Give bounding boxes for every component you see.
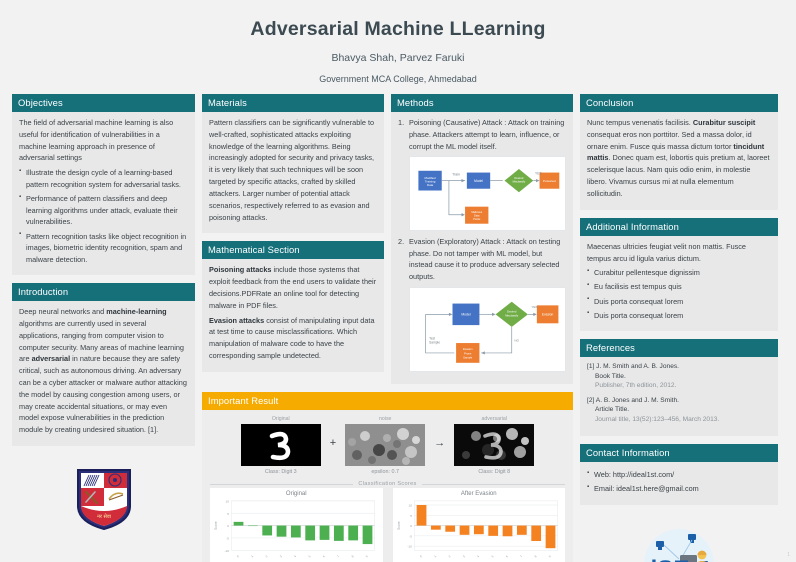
edge-label-yes: YES xyxy=(535,172,541,176)
svg-text:-10: -10 xyxy=(407,545,412,549)
reference-entry: [2] A. B. Jones and J. M. Smith. Article… xyxy=(587,396,771,425)
svg-text:3: 3 xyxy=(279,554,283,558)
introduction-paragraph: Deep neural networks and machine-learnin… xyxy=(19,306,188,436)
svg-text:Malicious: Malicious xyxy=(471,210,483,214)
svg-text:Misclassify: Misclassify xyxy=(505,314,519,318)
section-important-result-heading: Important Result xyxy=(202,392,573,410)
svg-text:Poisoned: Poisoned xyxy=(543,179,556,183)
section-materials-body: Pattern classifiers can be significantly… xyxy=(202,112,384,233)
section-methods-heading: Methods xyxy=(391,94,573,112)
reference-source: Journal title, 13(52):123–456, March 201… xyxy=(587,415,771,425)
intro-bold-2: adversarial xyxy=(32,354,71,363)
panel-caption-bottom: Class: Digit 3 xyxy=(241,469,321,475)
section-objectives-heading: Objectives xyxy=(12,94,195,112)
section-materials: Materials Pattern classifiers can be sig… xyxy=(202,94,384,233)
panel-caption-top: Original xyxy=(241,416,321,422)
contact-list: Web: http://ideal1st.com/ Email: ideal1s… xyxy=(587,469,771,495)
conclusion-text-2: consequat eros non porttitor. Sed a mass… xyxy=(587,130,752,151)
classification-scores-divider: Classification Scores xyxy=(210,481,565,487)
contact-web[interactable]: Web: http://ideal1st.com/ xyxy=(587,469,771,481)
conclusion-text-1: Nunc tempus venenatis facilisis. xyxy=(587,118,693,127)
edge-label-no: NO xyxy=(514,338,519,342)
poster-columns: Objectives The field of adversarial mach… xyxy=(0,94,796,562)
svg-text:Data: Data xyxy=(474,214,480,218)
panel-caption-top: noise xyxy=(345,416,425,422)
column-materials: Materials Pattern classifiers can be sig… xyxy=(202,94,384,392)
reference-entry: [1] J. M. Smith and A. B. Jones. Book Ti… xyxy=(587,362,771,391)
reference-authors: [2] A. B. Jones and J. M. Smith. xyxy=(587,396,771,406)
method-2-text: Evasion (Exploratory) Attack : Attack on… xyxy=(409,237,560,281)
list-item: Duis porta consequat lorem xyxy=(587,296,771,308)
panel-caption-bottom: Class: Digit 8 xyxy=(454,469,534,475)
svg-text:9: 9 xyxy=(547,554,551,558)
section-additional-information-heading: Additional Information xyxy=(580,218,778,236)
evasion-diagram-svg: Test Sample YES NO Model Desired Misclas… xyxy=(413,291,562,368)
svg-text:Score: Score xyxy=(214,521,218,530)
objectives-intro: The field of adversarial machine learnin… xyxy=(19,117,188,164)
poisoning-attack-flow-diagram: Train YES Modified Training Data Model D… xyxy=(409,156,566,230)
svg-text:2: 2 xyxy=(447,554,451,558)
svg-text:Model: Model xyxy=(474,179,483,183)
page-title: Adversarial Machine LLearning xyxy=(0,18,796,41)
svg-text:Misclassify: Misclassify xyxy=(513,180,526,184)
math-paragraph-2: Evasion attacks consist of manipulating … xyxy=(209,315,377,362)
crest-logo-container: नर सेवा xyxy=(12,466,195,532)
section-conclusion: Conclusion Nunc tempus venenatis facilis… xyxy=(580,94,778,210)
plus-operator-icon: + xyxy=(330,437,336,455)
svg-text:6: 6 xyxy=(504,554,508,558)
svg-text:4: 4 xyxy=(476,554,480,558)
poisoning-diagram-svg: Train YES Modified Training Data Model D… xyxy=(413,160,562,226)
methods-numbered-list: Poisoning (Causative) Attack : Attack on… xyxy=(398,117,566,372)
section-mathematical-heading: Mathematical Section xyxy=(202,241,384,259)
column-left: Objectives The field of adversarial mach… xyxy=(12,94,195,562)
mnist-original-image xyxy=(241,424,321,466)
svg-text:0: 0 xyxy=(227,524,229,528)
panel-caption-bottom: epsilon: 0.7 xyxy=(345,469,425,475)
section-contact-information: Contact Information Web: http://ideal1st… xyxy=(580,444,778,504)
contact-email[interactable]: Email: ideal1st.here@gmail.com xyxy=(587,483,771,495)
svg-text:5: 5 xyxy=(490,554,494,558)
svg-text:5: 5 xyxy=(410,514,412,518)
intro-text-1: Deep neural networks and xyxy=(19,307,106,316)
section-objectives-body: The field of adversarial machine learnin… xyxy=(12,112,195,275)
section-references-body: [1] J. M. Smith and A. B. Jones. Book Ti… xyxy=(580,357,778,436)
mnist-noise-image xyxy=(345,424,425,466)
math-bold-2: Evasion attacks xyxy=(209,316,264,325)
section-methods: Methods Poisoning (Causative) Attack : A… xyxy=(391,94,573,384)
section-important-result: Important Result Original Class: Digit xyxy=(202,392,573,562)
chart-after-evasion-svg: -10-505100123456789Score xyxy=(395,497,563,562)
svg-text:9: 9 xyxy=(365,554,369,558)
svg-text:0: 0 xyxy=(236,554,240,558)
svg-text:Evasion: Evasion xyxy=(542,313,554,317)
svg-text:Data: Data xyxy=(427,183,434,187)
reference-title: Book Title. xyxy=(587,372,771,382)
svg-text:Prone: Prone xyxy=(464,351,472,355)
svg-text:2: 2 xyxy=(265,554,269,558)
svg-text:Sample: Sample xyxy=(463,355,473,359)
section-introduction-body: Deep neural networks and machine-learnin… xyxy=(12,301,195,446)
section-additional-information: Additional Information Maecenas ultricie… xyxy=(580,218,778,331)
affiliation: Government MCA College, Ahmedabad xyxy=(0,74,796,84)
mnist-panel-original: Original Class: Digit 3 xyxy=(241,416,321,475)
svg-text:3: 3 xyxy=(461,554,465,558)
additional-info-intro: Maecenas ultricies feugiat velit non mat… xyxy=(587,241,771,265)
reference-authors: [1] J. M. Smith and A. B. Jones. xyxy=(587,362,771,372)
svg-text:5: 5 xyxy=(307,554,311,558)
list-item: Illustrate the design cycle of a learnin… xyxy=(19,167,188,190)
author-list: Bhavya Shah, Parvez Faruki xyxy=(0,52,796,64)
arrow-right-icon: → xyxy=(434,437,445,455)
svg-text:Points: Points xyxy=(473,218,481,222)
svg-text:8: 8 xyxy=(350,554,354,558)
svg-text:0: 0 xyxy=(410,524,412,528)
svg-text:नर सेवा: नर सेवा xyxy=(97,513,112,520)
section-references: References [1] J. M. Smith and A. B. Jon… xyxy=(580,339,778,436)
column-methods: Methods Poisoning (Causative) Attack : A… xyxy=(391,94,573,392)
university-crest-icon: नर सेवा xyxy=(73,466,135,532)
divider-line-right xyxy=(422,484,565,485)
section-methods-body: Poisoning (Causative) Attack : Attack on… xyxy=(391,112,573,384)
list-item: Duis porta consequat lorem xyxy=(587,310,771,322)
method-1-text: Poisoning (Causative) Attack : Attack on… xyxy=(409,118,564,151)
svg-text:Evasion: Evasion xyxy=(463,347,473,351)
evasion-attack-flow-diagram: Test Sample YES NO Model Desired Misclas… xyxy=(409,287,566,372)
isea-logo-icon: iSE A xyxy=(640,525,718,562)
svg-text:1: 1 xyxy=(250,554,254,558)
additional-info-bullet-list: Curabitur pellentesque dignissim Eu faci… xyxy=(587,267,771,321)
divider-line-left xyxy=(210,484,353,485)
list-item: Poisoning (Causative) Attack : Attack on… xyxy=(398,117,566,231)
svg-text:-5: -5 xyxy=(226,537,229,541)
svg-text:4: 4 xyxy=(293,554,297,558)
mnist-comparison-row: Original Class: Digit 3 + noise xyxy=(210,416,565,475)
materials-text: Pattern classifiers can be significantly… xyxy=(209,117,377,223)
intro-bold-1: machine-learning xyxy=(106,307,166,316)
panel-caption-top: adversarial xyxy=(454,416,534,422)
column-middle: Materials Pattern classifiers can be sig… xyxy=(202,94,573,562)
page-number: 1 xyxy=(787,552,790,558)
mnist-adversarial-image xyxy=(454,424,534,466)
list-item: Eu facilisis est tempus quis xyxy=(587,281,771,293)
section-conclusion-heading: Conclusion xyxy=(580,94,778,112)
svg-text:0: 0 xyxy=(418,554,422,558)
svg-text:Score: Score xyxy=(396,521,400,530)
section-conclusion-body: Nunc tempus venenatis facilisis. Curabit… xyxy=(580,112,778,210)
svg-text:-5: -5 xyxy=(409,535,412,539)
svg-text:Desired: Desired xyxy=(514,176,523,180)
chart-original: Original -10-505100123456789Score xyxy=(210,488,383,562)
conclusion-bold-1: Curabitur suscipit xyxy=(693,118,755,127)
section-materials-heading: Materials xyxy=(202,94,384,112)
middle-top-row: Materials Pattern classifiers can be sig… xyxy=(202,94,573,392)
section-mathematical: Mathematical Section Poisoning attacks i… xyxy=(202,241,384,372)
edge-label-train: Train xyxy=(452,173,460,177)
reference-title: Article Title. xyxy=(587,405,771,415)
divider-label: Classification Scores xyxy=(358,481,416,487)
edge-label-yes: YES xyxy=(531,305,537,309)
svg-text:10: 10 xyxy=(408,504,412,508)
intro-text-3: in nature because they are safety critic… xyxy=(19,354,187,434)
svg-text:1: 1 xyxy=(433,554,437,558)
svg-text:7: 7 xyxy=(519,554,523,558)
svg-text:8: 8 xyxy=(533,554,537,558)
svg-text:Desired: Desired xyxy=(507,310,517,314)
svg-text:10: 10 xyxy=(226,500,230,504)
conclusion-paragraph: Nunc tempus venenatis facilisis. Curabit… xyxy=(587,117,771,200)
svg-text:7: 7 xyxy=(336,554,340,558)
section-introduction-heading: Introduction xyxy=(12,283,195,301)
svg-text:5: 5 xyxy=(227,512,229,516)
math-bold-1: Poisoning attacks xyxy=(209,265,271,274)
svg-text:Sample: Sample xyxy=(429,341,440,345)
chart-original-svg: -10-505100123456789Score xyxy=(212,497,380,562)
score-charts-row: Original -10-505100123456789Score After … xyxy=(210,488,565,562)
section-additional-information-body: Maecenas ultricies feugiat velit non mat… xyxy=(580,236,778,331)
section-references-heading: References xyxy=(580,339,778,357)
mnist-panel-adversarial: adversarial xyxy=(454,416,534,475)
section-mathematical-body: Poisoning attacks include those systems … xyxy=(202,259,384,372)
mnist-panel-noise: noise xyxy=(345,416,425,475)
section-contact-information-body: Web: http://ideal1st.com/ Email: ideal1s… xyxy=(580,462,778,504)
poster-canvas: Adversarial Machine LLearning Bhavya Sha… xyxy=(0,0,796,562)
math-paragraph-1: Poisoning attacks include those systems … xyxy=(209,264,377,311)
section-introduction: Introduction Deep neural networks and ma… xyxy=(12,283,195,446)
list-item: Pattern recognition tasks like object re… xyxy=(19,231,188,266)
list-item: Curabitur pellentesque dignissim xyxy=(587,267,771,279)
isea-logo-container: iSE A xyxy=(580,525,778,562)
list-item: Evasion (Exploratory) Attack : Attack on… xyxy=(398,236,566,372)
conclusion-text-3: . Donec quam est, lobortis quis pretium … xyxy=(587,153,770,197)
section-objectives: Objectives The field of adversarial mach… xyxy=(12,94,195,275)
column-right: Conclusion Nunc tempus venenatis facilis… xyxy=(580,94,778,562)
poster-header: Adversarial Machine LLearning Bhavya Sha… xyxy=(0,0,796,84)
svg-text:Model: Model xyxy=(461,313,471,317)
svg-text:6: 6 xyxy=(322,554,326,558)
chart-after-evasion: After Evasion -10-505100123456789Score xyxy=(393,488,566,562)
section-contact-information-heading: Contact Information xyxy=(580,444,778,462)
reference-source: Publisher, 7th edition, 2012. xyxy=(587,381,771,391)
section-important-result-body: Original Class: Digit 3 + noise xyxy=(202,410,573,562)
svg-text:-10: -10 xyxy=(224,549,229,553)
list-item: Performance of pattern classifiers and d… xyxy=(19,193,188,228)
svg-text:iSE: iSE xyxy=(651,556,690,562)
objectives-bullet-list: Illustrate the design cycle of a learnin… xyxy=(19,167,188,265)
